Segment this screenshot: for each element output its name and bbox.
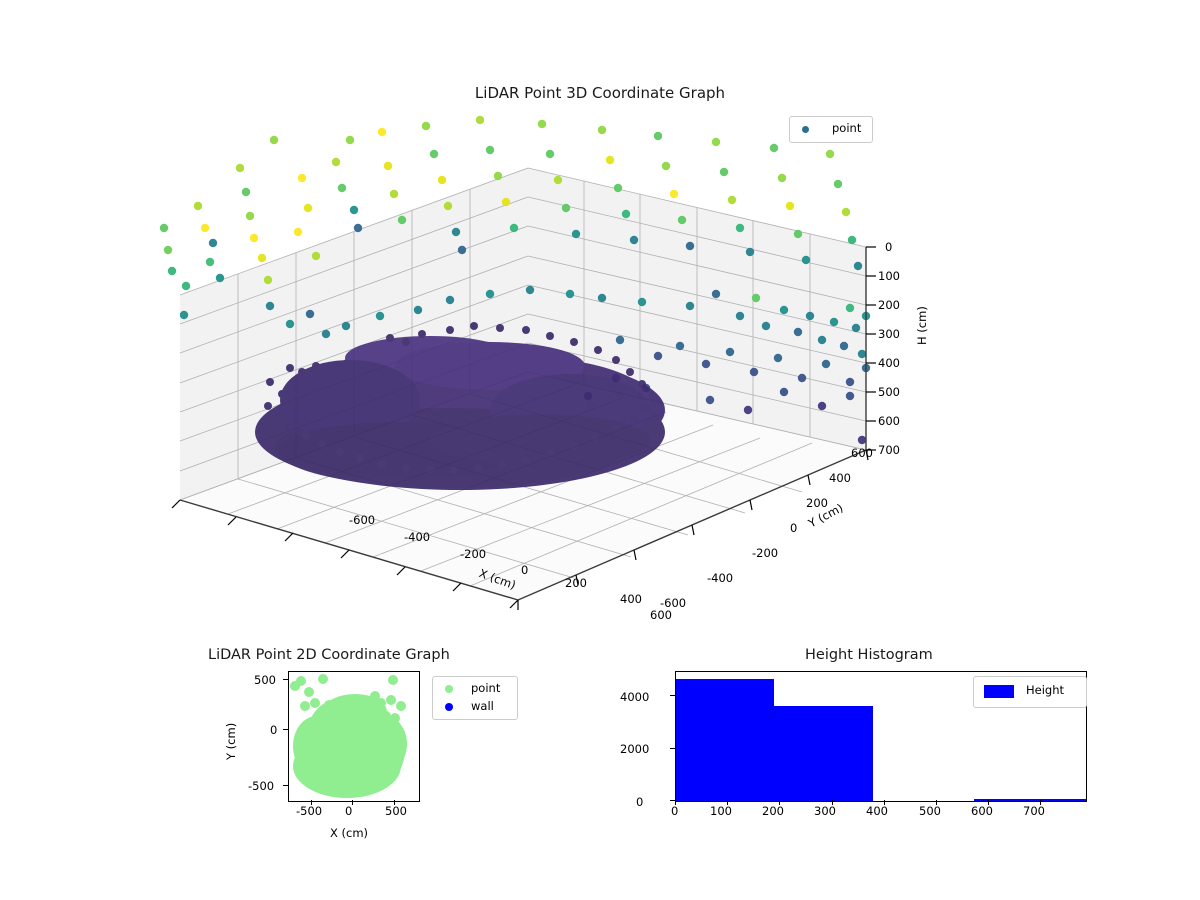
hist-x-tick-700: 700 [1023,804,1045,818]
legend-histogram[interactable]: Height [973,676,1087,708]
panel-2d-title: LiDAR Point 2D Coordinate Graph [208,647,450,663]
y-tick--400: -400 [707,571,733,585]
legend-2d-point-marker-icon [445,685,453,693]
axis-label-z: H (cm) [915,306,929,345]
hist-x-tick-600: 600 [971,804,993,818]
scatter-2d-svg [289,672,419,801]
axis-label-y-2d: Y (cm) [224,723,238,760]
hist-x-tick-500: 500 [919,804,941,818]
legend-3d[interactable]: point [789,116,873,143]
y2d-mark-500 [283,679,288,680]
z-tick-300: 300 [878,327,900,341]
hist-x-mark-300 [832,800,833,805]
hist-x-mark-500 [936,800,937,805]
axes-2d[interactable] [288,671,420,802]
hist-x-tick-100: 100 [710,804,732,818]
x2d-tick-500: 500 [385,804,407,818]
legend-2d-wall-label: wall [471,699,494,713]
hist-bar-1 [774,706,873,801]
y-tick-400: 400 [829,471,851,485]
x2d-tick-0: 0 [345,804,352,818]
legend-2d-wall-marker-icon [445,703,453,711]
hist-x-mark-0 [675,800,676,805]
x2d-mark--500 [311,800,312,805]
x-tick--200: -200 [460,547,486,561]
legend-height-label: Height [1026,683,1064,697]
hist-x-mark-100 [727,800,728,805]
z-tick-700: 700 [878,443,900,457]
hist-x-mark-600 [988,800,989,805]
x-tick-0: 0 [521,563,528,577]
z-tick-600: 600 [878,414,900,428]
hist-bar-0 [676,679,774,801]
legend-2d[interactable]: point wall [432,676,518,720]
y-tick--200: -200 [752,546,778,560]
y-tick--600: -600 [660,596,686,610]
hist-y-tick-0: 0 [636,795,643,809]
legend-2d-point-label: point [471,681,500,695]
hist-x-tick-400: 400 [866,804,888,818]
y2d-tick--500: -500 [248,779,274,793]
z-tick-500: 500 [878,385,900,399]
hist-x-mark-400 [884,800,885,805]
x2d-mark-500 [394,800,395,805]
hist-x-tick-200: 200 [762,804,784,818]
hist-x-tick-0: 0 [671,804,678,818]
y2d-mark--500 [283,785,288,786]
x-tick-400: 400 [620,592,642,606]
hist-x-mark-200 [779,800,780,805]
hist-x-mark-700 [1040,800,1041,805]
legend-point-label: point [832,121,861,135]
x-tick-600: 600 [650,608,672,622]
hist-y-mark-2000 [670,748,675,749]
y2d-tick-0: 0 [270,723,277,737]
hist-y-mark-4000 [670,695,675,696]
legend-point-marker-icon [802,126,809,133]
matplotlib-figure: LiDAR Point 3D Coordinate Graph [0,0,1200,900]
z-tick-marks [866,247,876,450]
y2d-tick-500: 500 [254,673,276,687]
hist-y-tick-2000: 2000 [620,742,649,756]
hist-bar-3 [974,799,1086,801]
z-tick-0: 0 [885,240,892,254]
x-tick--400: -400 [404,530,430,544]
panel-hist-title: Height Histogram [805,647,933,663]
z-tick-100: 100 [878,269,900,283]
x2d-mark-0 [352,800,353,805]
axes-3d[interactable] [150,110,1070,630]
scatter-2d-points [290,674,407,798]
hist-x-tick-300: 300 [814,804,836,818]
z-tick-200: 200 [878,298,900,312]
z-tick-400: 400 [878,356,900,370]
panel-3d-title: LiDAR Point 3D Coordinate Graph [0,84,1200,102]
x-tick-200: 200 [565,576,587,590]
x2d-tick--500: -500 [296,804,322,818]
y-tick-0: 0 [790,521,797,535]
hist-y-tick-4000: 4000 [620,690,649,704]
legend-height-patch-icon [984,685,1014,698]
x-tick--600: -600 [349,513,375,527]
y-tick-600: 600 [851,446,873,460]
axis-label-x-2d: X (cm) [330,826,368,840]
y2d-mark-0 [283,729,288,730]
